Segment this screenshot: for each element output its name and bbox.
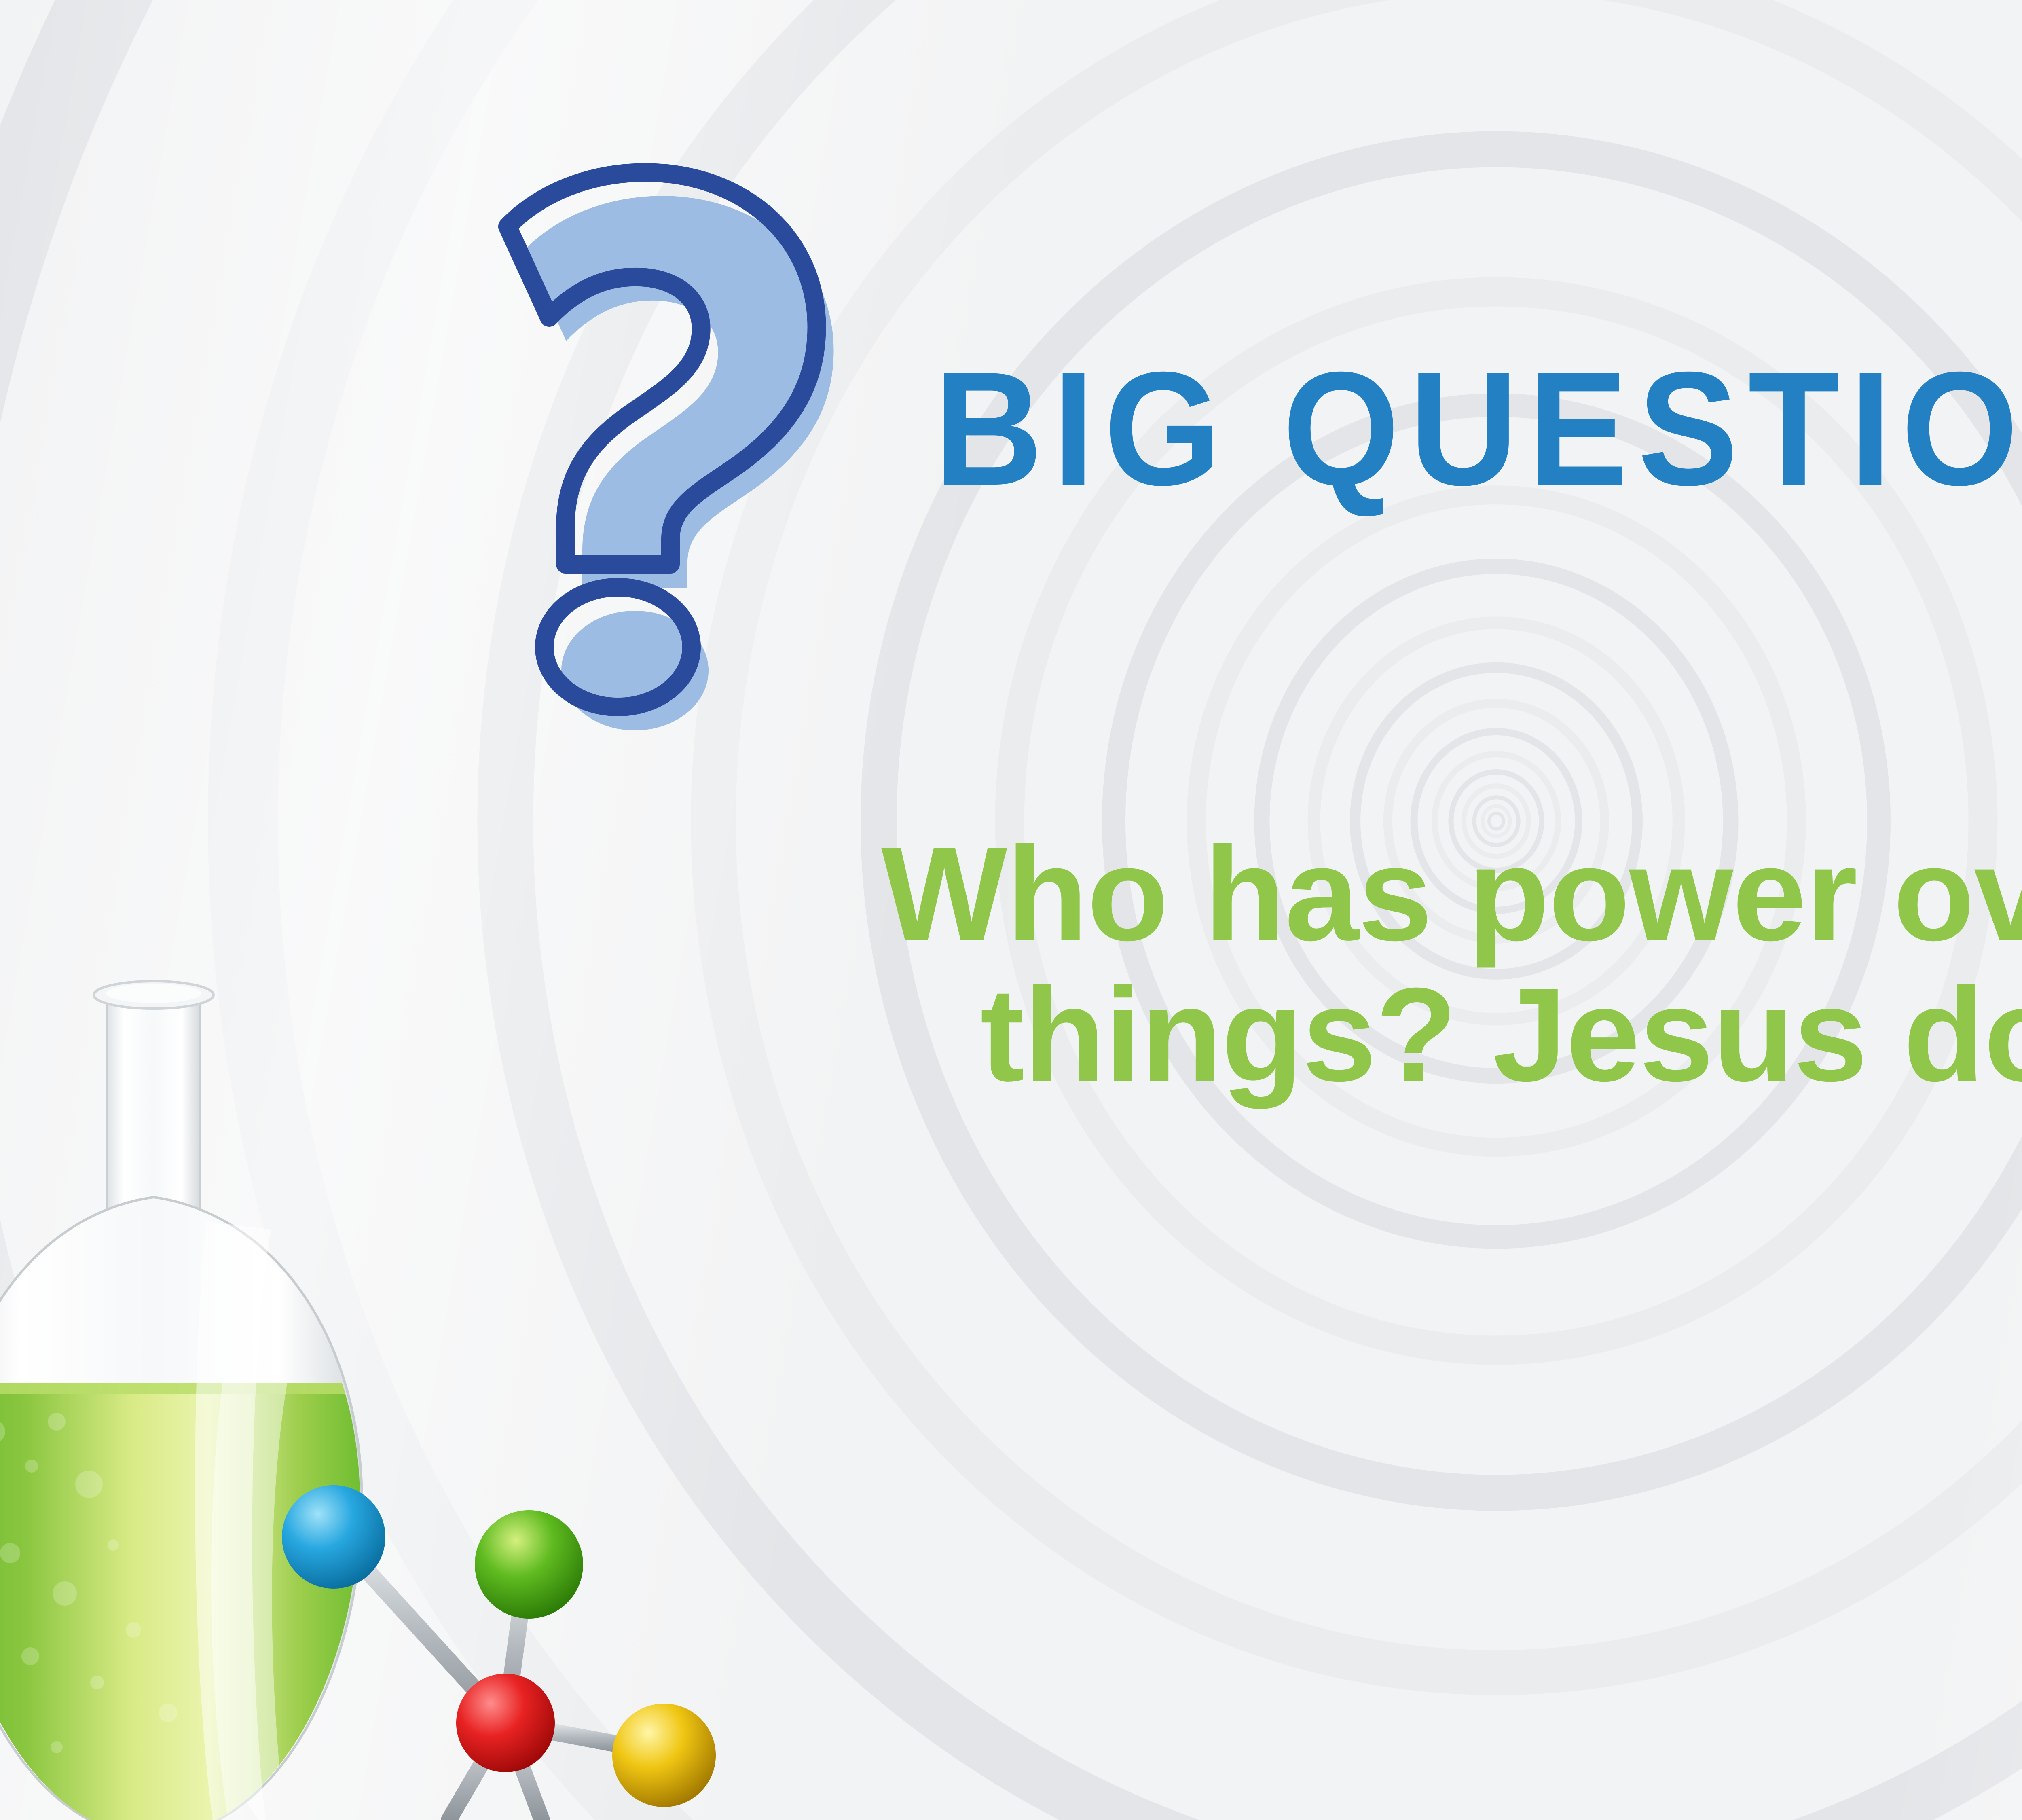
answer-line-1: Who has power over all — [0, 829, 2022, 959]
question-mark-icon — [469, 162, 882, 736]
atom-yellow — [612, 1704, 716, 1807]
atom-green — [475, 1510, 583, 1619]
atom-blue — [282, 1485, 385, 1589]
molecule-model — [279, 1472, 716, 1820]
page-title: BIG QUESTION — [934, 340, 2022, 534]
atom-red-center — [456, 1674, 555, 1772]
slide-canvas: BIG QUESTION Who has power over all thin… — [0, 0, 2022, 1820]
